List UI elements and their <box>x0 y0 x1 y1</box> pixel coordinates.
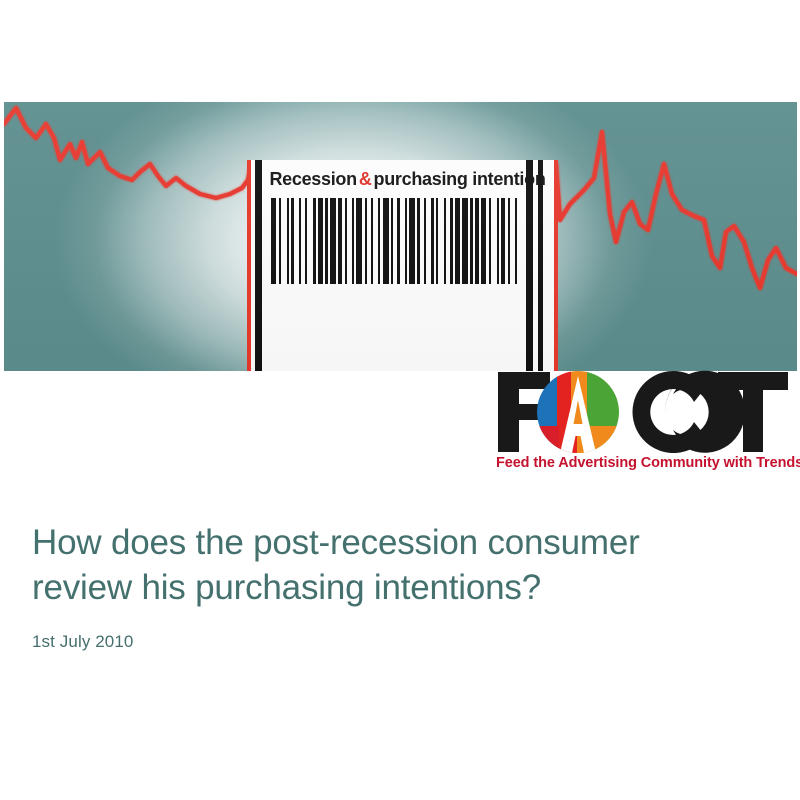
logo-a-emblem <box>537 371 621 454</box>
barcode-label-suffix: purchasing intention <box>374 169 546 190</box>
fact-wordmark <box>492 370 792 454</box>
hero-banner: Recession & purchasing intention <box>4 102 797 371</box>
title-slide: Recession & purchasing intention <box>0 0 800 800</box>
fact-logo: Feed the Advertising Community with Tren… <box>492 370 792 482</box>
barcode-bars <box>251 198 554 284</box>
title-block: How does the post-recession consumer rev… <box>32 520 762 652</box>
barcode-label-prefix: Recession <box>269 169 356 190</box>
chart-line-left <box>4 108 251 198</box>
barcode-bar <box>517 198 520 284</box>
barcode-label: Recession & purchasing intention <box>251 160 554 198</box>
slide-date: 1st July 2010 <box>32 632 762 652</box>
logo-tagline: Feed the Advertising Community with Tren… <box>496 455 792 471</box>
logo-letter-c-shape <box>633 371 706 453</box>
page-title: How does the post-recession consumer rev… <box>32 520 742 610</box>
chart-line-right <box>556 132 797 288</box>
barcode-right-rule <box>554 160 558 371</box>
barcode-graphic: Recession & purchasing intention <box>245 160 560 371</box>
barcode-label-ampersand: & <box>357 169 374 190</box>
